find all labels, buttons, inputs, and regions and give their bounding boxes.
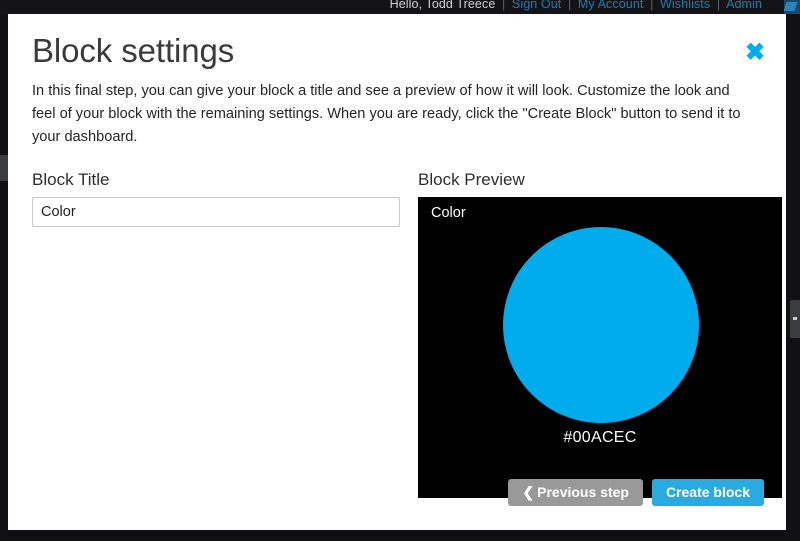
block-title-label: Block Title — [32, 170, 400, 190]
block-title-column: Block Title — [32, 170, 400, 498]
site-header: Hello, Todd Treece | Sign Out | My Accou… — [0, 0, 800, 14]
page-backdrop: Hello, Todd Treece | Sign Out | My Accou… — [0, 0, 800, 541]
color-swatch-circle — [503, 227, 699, 423]
corner-widget-icon — [784, 0, 800, 14]
block-title-input[interactable] — [32, 197, 400, 227]
page-title: Block settings — [8, 14, 786, 70]
block-settings-modal: ✖ Block settings In this final step, you… — [8, 14, 786, 530]
site-header-separator-3: | — [647, 0, 656, 11]
create-block-button[interactable]: Create block — [652, 479, 764, 506]
site-header-link-wishlists[interactable]: Wishlists — [660, 0, 710, 11]
site-header-link-my-account[interactable]: My Account — [578, 0, 644, 11]
edge-feedback-tab[interactable] — [790, 300, 800, 338]
site-header-link-sign-out[interactable]: Sign Out — [512, 0, 561, 11]
modal-action-bar: ❮Previous step Create block — [508, 479, 764, 506]
chevron-left-icon: ❮ — [522, 484, 537, 500]
modal-columns: Block Title Block Preview Color #00ACEC — [8, 149, 786, 498]
site-header-greeting: Hello, Todd Treece — [390, 0, 496, 11]
site-header-separator-4: | — [714, 0, 723, 11]
site-header-separator-1: | — [499, 0, 508, 11]
page-left-edge-artifact — [0, 155, 8, 181]
block-preview-column: Block Preview Color #00ACEC — [418, 170, 782, 498]
color-hex-value: #00ACEC — [418, 429, 782, 447]
site-header-separator-2: | — [565, 0, 574, 11]
previous-step-button[interactable]: ❮Previous step — [508, 479, 643, 506]
site-header-link-admin[interactable]: Admin — [726, 0, 762, 11]
preview-caption: Color — [431, 205, 466, 221]
block-preview-box: Color #00ACEC — [418, 197, 782, 498]
previous-step-label: Previous step — [537, 484, 629, 500]
block-preview-label: Block Preview — [418, 170, 782, 190]
close-x-icon[interactable]: ✖ — [742, 40, 768, 66]
modal-description: In this final step, you can give your bl… — [8, 70, 786, 149]
